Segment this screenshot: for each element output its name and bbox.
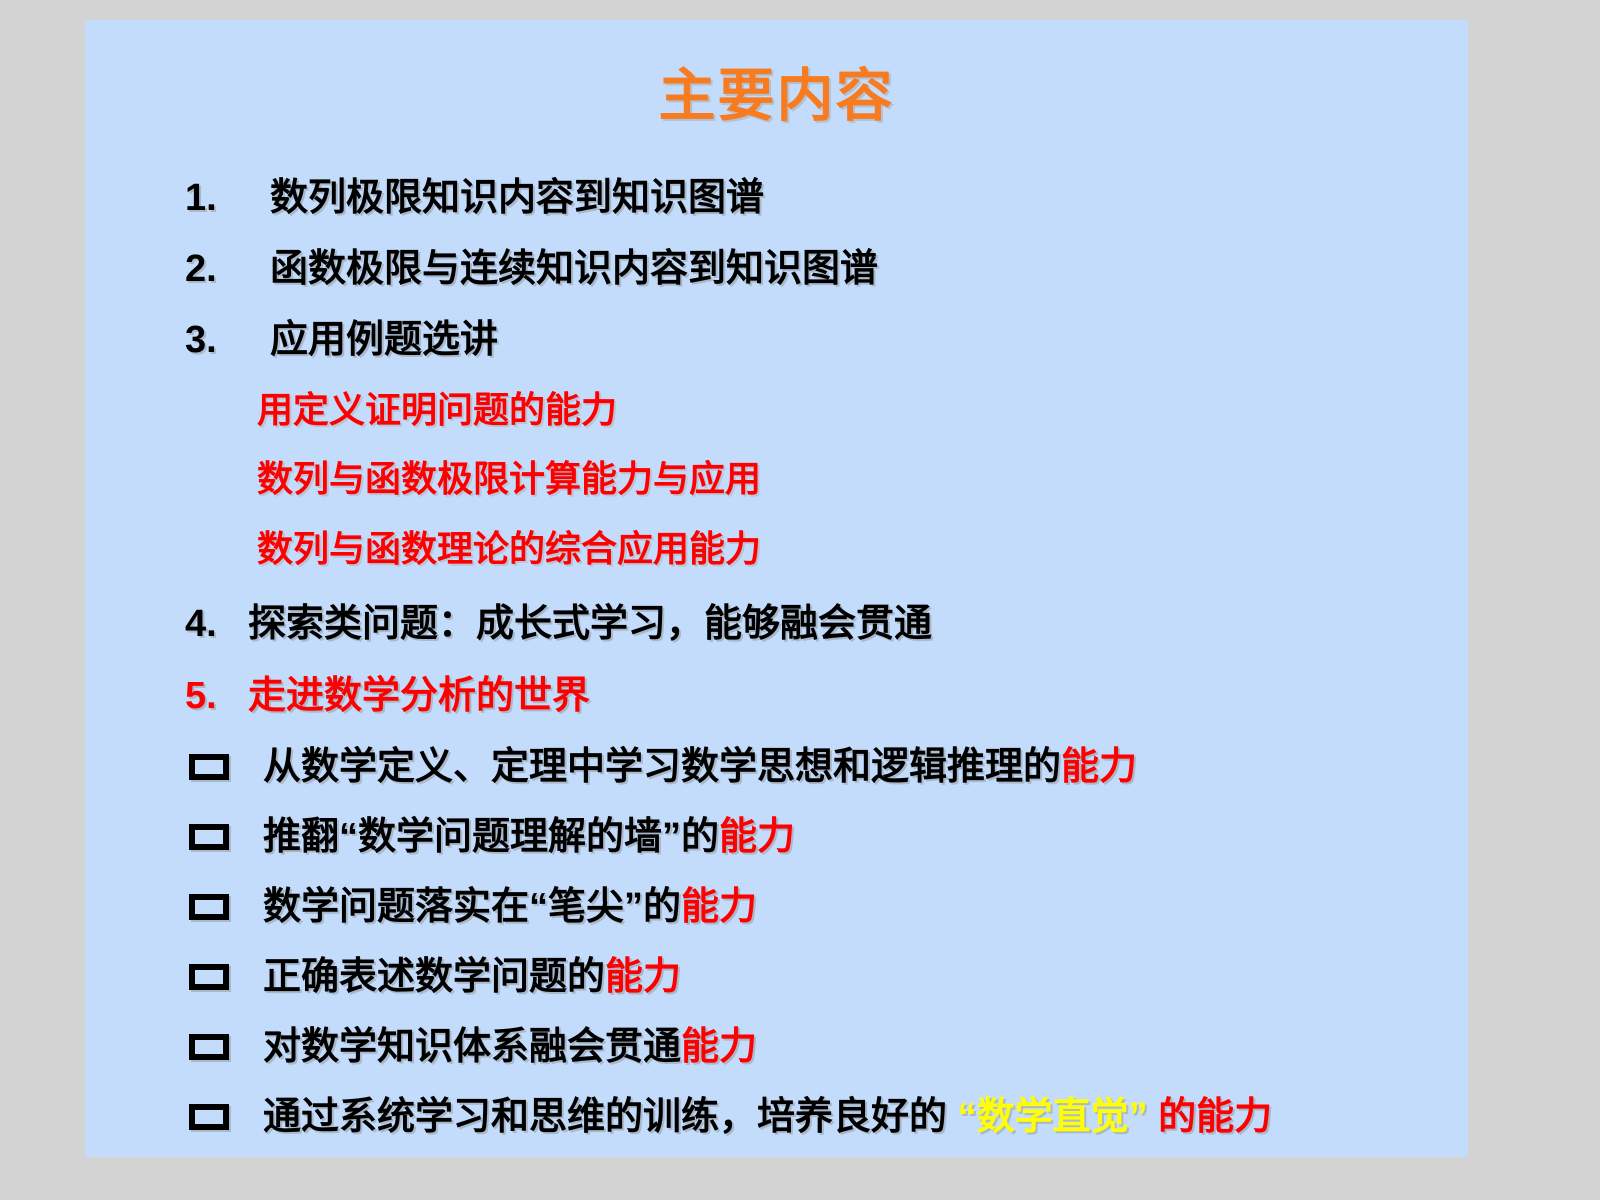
- bullet-row-6-text: 通过系统学习和思维的训练，培养良好的 “数学直觉” 的能力: [263, 1098, 1272, 1136]
- bullet-1-lead: 从数学定义、定理中学习数学思想和逻辑推理的: [263, 746, 1061, 788]
- list-marker-2: 2.: [185, 250, 255, 288]
- sub-item-2: 数列与函数极限计算能力与应用: [257, 461, 761, 497]
- list-item-4: 4. 探索类问题：成长式学习，能够融会贯通: [85, 598, 1468, 650]
- bullet-row-4: 正确表述数学问题的能力: [85, 951, 1468, 1003]
- list-marker-4: 4.: [185, 605, 255, 643]
- bullet-5-accent: 能力: [681, 1026, 757, 1068]
- checkbox-square-icon: [189, 754, 229, 780]
- checkbox-square-icon: [189, 964, 229, 990]
- sub-item-1: 用定义证明问题的能力: [257, 392, 617, 428]
- bullet-row-5: 对数学知识体系融会贯通能力: [85, 1021, 1468, 1073]
- bullet-row-3: 数学问题落实在“笔尖”的能力: [85, 881, 1468, 933]
- list-marker-1: 1.: [185, 179, 255, 217]
- checkbox-square-icon: [189, 894, 229, 920]
- list-item-3-text: 应用例题选讲: [270, 321, 498, 359]
- sub-item-3: 数列与函数理论的综合应用能力: [257, 531, 761, 567]
- bullet-row-2-text: 推翻“数学问题理解的墙”的能力: [263, 818, 795, 856]
- list-marker-3: 3.: [185, 321, 255, 359]
- bullet-5-lead: 对数学知识体系融会贯通: [263, 1026, 681, 1068]
- bullet-row-5-text: 对数学知识体系融会贯通能力: [263, 1028, 757, 1066]
- checkbox-square-icon: [189, 1104, 229, 1130]
- bullet-2-accent: 能力: [719, 816, 795, 858]
- checkbox-square-icon: [189, 824, 229, 850]
- checkbox-square-icon: [189, 1034, 229, 1060]
- bullet-4-lead: 正确表述数学问题的: [263, 956, 605, 998]
- list-item-1: 1. 数列极限知识内容到知识图谱: [85, 172, 1468, 224]
- bullet-3-accent: 能力: [681, 886, 757, 928]
- list-item-1-text: 数列极限知识内容到知识图谱: [270, 179, 764, 217]
- list-item-5-text: 走进数学分析的世界: [248, 677, 590, 715]
- bullet-row-6: 通过系统学习和思维的训练，培养良好的 “数学直觉” 的能力: [85, 1091, 1468, 1143]
- bullet-6-accent: 的能力: [1148, 1096, 1273, 1138]
- list-item-4-text: 探索类问题：成长式学习，能够融会贯通: [248, 605, 932, 643]
- bullet-4-accent: 能力: [605, 956, 681, 998]
- list-item-2-text: 函数极限与连续知识内容到知识图谱: [270, 250, 878, 288]
- list-item-3: 3. 应用例题选讲: [85, 314, 1468, 366]
- bullet-1-accent: 能力: [1061, 746, 1137, 788]
- list-item-2: 2. 函数极限与连续知识内容到知识图谱: [85, 243, 1468, 295]
- bullet-row-3-text: 数学问题落实在“笔尖”的能力: [263, 888, 757, 926]
- slide-canvas: 主要内容 1. 数列极限知识内容到知识图谱 2. 函数极限与连续知识内容到知识图…: [85, 20, 1468, 1157]
- list-item-5: 5. 走进数学分析的世界: [85, 670, 1468, 722]
- bullet-row-1-text: 从数学定义、定理中学习数学思想和逻辑推理的能力: [263, 748, 1137, 786]
- bullet-6-lead: 通过系统学习和思维的训练，培养良好的: [263, 1096, 958, 1138]
- bullet-3-lead: 数学问题落实在“笔尖”的: [263, 886, 681, 928]
- bullet-row-4-text: 正确表述数学问题的能力: [263, 958, 681, 996]
- bullet-row-2: 推翻“数学问题理解的墙”的能力: [85, 811, 1468, 863]
- bullet-2-lead: 推翻“数学问题理解的墙”的: [263, 816, 719, 858]
- page-title: 主要内容: [85, 68, 1468, 125]
- bullet-row-1: 从数学定义、定理中学习数学思想和逻辑推理的能力: [85, 741, 1468, 793]
- bullet-6-highlight: “数学直觉”: [958, 1096, 1148, 1138]
- list-marker-5: 5.: [185, 677, 255, 715]
